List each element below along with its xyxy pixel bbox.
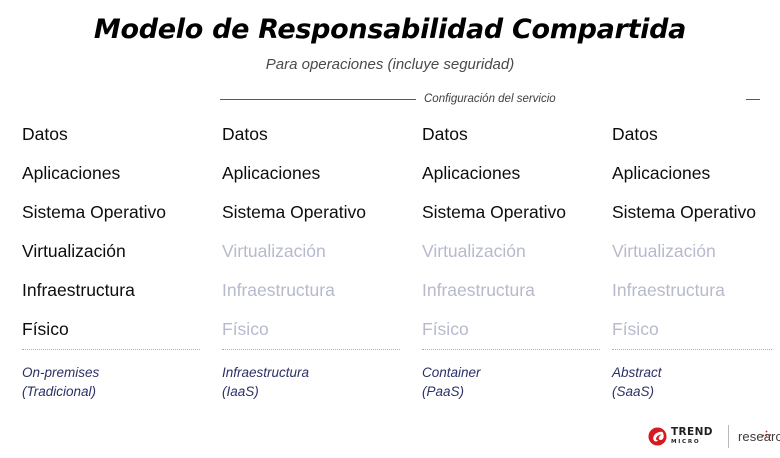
- layer-row: Físico: [222, 310, 400, 349]
- stack-column-paas: DatosAplicacionesSistema OperativoVirtua…: [422, 115, 600, 349]
- research-unit-label: research: [738, 429, 780, 444]
- column-divider-paas: [422, 349, 600, 350]
- layer-row: Infraestructura: [222, 271, 400, 310]
- layer-row: Datos: [612, 115, 772, 154]
- column-caption-line2: (Tradicional): [22, 383, 99, 402]
- layer-row: Datos: [422, 115, 600, 154]
- layer-row: Aplicaciones: [612, 154, 772, 193]
- layer-row: Aplicaciones: [422, 154, 600, 193]
- layer-row: Infraestructura: [612, 271, 772, 310]
- column-caption-line1: Abstract: [612, 364, 662, 383]
- column-caption-line1: Container: [422, 364, 481, 383]
- layer-row: Infraestructura: [422, 271, 600, 310]
- column-caption-line2: (PaaS): [422, 383, 481, 402]
- page-subtitle: Para operaciones (incluye seguridad): [0, 56, 780, 73]
- layer-row: Físico: [22, 310, 200, 349]
- service-configuration-rule: Configuración del servicio: [220, 91, 760, 109]
- page-title: Modelo de Responsabilidad Compartida: [0, 14, 780, 45]
- service-configuration-label: Configuración del servicio: [420, 91, 560, 107]
- layer-row: Virtualización: [22, 232, 200, 271]
- layer-row: Virtualización: [222, 232, 400, 271]
- layer-row: Datos: [22, 115, 200, 154]
- column-caption-iaas: Infraestructura(IaaS): [222, 364, 309, 401]
- stack-column-on-premises: DatosAplicacionesSistema OperativoVirtua…: [22, 115, 200, 349]
- layer-row: Sistema Operativo: [22, 193, 200, 232]
- rule-line-left: [220, 99, 416, 100]
- layer-row: Físico: [612, 310, 772, 349]
- layer-row: Infraestructura: [22, 271, 200, 310]
- column-caption-line1: Infraestructura: [222, 364, 309, 383]
- research-sparkle-icon: [761, 425, 772, 433]
- layer-row: Físico: [422, 310, 600, 349]
- column-caption-line2: (SaaS): [612, 383, 662, 402]
- layer-row: Sistema Operativo: [612, 193, 772, 232]
- trend-micro-research-logo: TREND MICRO research: [648, 424, 772, 450]
- layer-row: Sistema Operativo: [222, 193, 400, 232]
- brand-name-line2: MICRO: [671, 438, 721, 446]
- stack-column-iaas: DatosAplicacionesSistema OperativoVirtua…: [222, 115, 400, 349]
- logo-divider: [728, 425, 729, 448]
- column-divider-iaas: [222, 349, 400, 350]
- column-caption-paas: Container(PaaS): [422, 364, 481, 401]
- layer-row: Sistema Operativo: [422, 193, 600, 232]
- column-caption-line2: (IaaS): [222, 383, 309, 402]
- column-divider-on-premises: [22, 349, 200, 350]
- layer-row: Datos: [222, 115, 400, 154]
- layer-row: Virtualización: [612, 232, 772, 271]
- column-divider-saas: [612, 349, 772, 350]
- stack-column-saas: DatosAplicacionesSistema OperativoVirtua…: [612, 115, 772, 349]
- trend-micro-ball-icon: [648, 427, 667, 446]
- layer-row: Aplicaciones: [22, 154, 200, 193]
- layer-row: Aplicaciones: [222, 154, 400, 193]
- brand-name-line1: TREND: [671, 427, 721, 438]
- rule-line-right: [746, 99, 760, 100]
- trend-micro-wordmark: TREND MICRO: [671, 427, 721, 446]
- column-caption-on-premises: On-premises(Tradicional): [22, 364, 99, 401]
- column-caption-saas: Abstract(SaaS): [612, 364, 662, 401]
- layer-row: Virtualización: [422, 232, 600, 271]
- column-caption-line1: On-premises: [22, 364, 99, 383]
